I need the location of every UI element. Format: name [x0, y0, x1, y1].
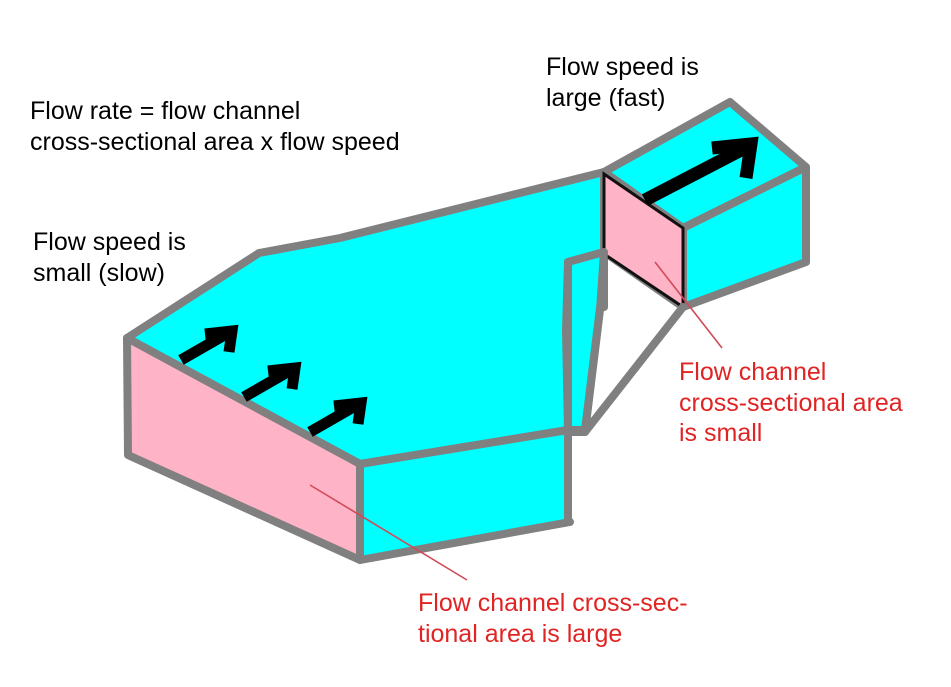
diagram-canvas: Flow rate = flow channel cross-sectional…: [0, 0, 951, 687]
label-cross-section-small: Flow channel cross-sectional area is sma…: [679, 357, 903, 449]
label-flow-speed-fast: Flow speed is large (fast): [546, 52, 699, 113]
label-flow-rate-formula: Flow rate = flow channel cross-sectional…: [30, 96, 400, 157]
label-cross-section-large: Flow channel cross-sec- tional area is l…: [418, 588, 688, 649]
label-flow-speed-slow: Flow speed is small (slow): [33, 227, 186, 288]
constriction-outer-edge: [566, 262, 568, 432]
